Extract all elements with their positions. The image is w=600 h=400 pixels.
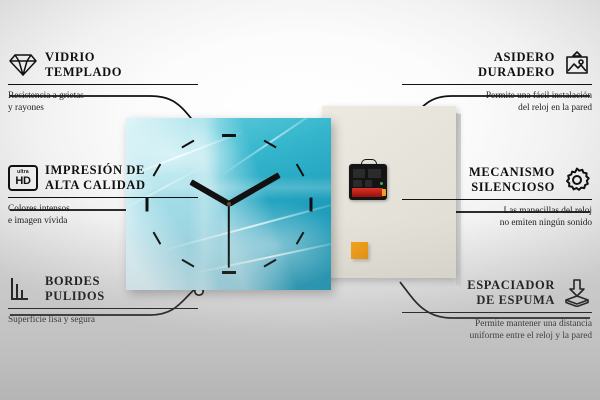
feature-title-line1: IMPRESIÓN DE bbox=[45, 163, 146, 178]
feature-impresion-alta-calidad: ultra HD IMPRESIÓN DE ALTA CALIDAD Color… bbox=[8, 163, 198, 228]
clock-tick bbox=[309, 197, 312, 211]
divider bbox=[8, 197, 198, 199]
divider bbox=[402, 312, 592, 314]
picture-frame-hanger-icon bbox=[562, 50, 592, 80]
feature-title-line2: PULIDOS bbox=[45, 289, 105, 304]
feature-espaciador-de-espuma: ESPACIADOR DE ESPUMA Permite mantener un… bbox=[402, 278, 592, 343]
feature-title-line1: ESPACIADOR bbox=[467, 278, 555, 293]
feature-bordes-pulidos: BORDES PULIDOS Superficie lisa y segura bbox=[8, 274, 198, 326]
mechanism-detail bbox=[365, 180, 372, 187]
divider bbox=[402, 199, 592, 201]
feature-title-line2: DURADERO bbox=[478, 65, 555, 80]
feature-desc-line1: Resistencia a grietas bbox=[8, 90, 198, 102]
clock-tick bbox=[263, 259, 276, 268]
feature-desc-line2: del reloj en la pared bbox=[402, 102, 592, 114]
feature-vidrio-templado: VIDRIO TEMPLADO Resistencia a grietas y … bbox=[8, 50, 198, 115]
feature-desc-line2: e imagen vívida bbox=[8, 215, 198, 227]
diamond-icon bbox=[8, 50, 38, 80]
feature-title-line1: BORDES bbox=[45, 274, 105, 289]
hanger-hook-icon bbox=[361, 159, 377, 167]
hd-badge-large-label: HD bbox=[15, 176, 30, 187]
feature-desc-line1: Las manecillas del reloj bbox=[402, 205, 592, 217]
clock-second-hand bbox=[228, 204, 230, 268]
feature-title-line1: ASIDERO bbox=[478, 50, 555, 65]
clock-tick bbox=[295, 232, 304, 245]
clock-center-pin bbox=[227, 202, 231, 206]
mechanism-detail bbox=[368, 169, 381, 178]
clock-tick bbox=[222, 271, 236, 274]
divider bbox=[8, 84, 198, 86]
feature-title-line1: VIDRIO bbox=[45, 50, 122, 65]
feature-desc-line1: Permite una fácil instalación bbox=[402, 90, 592, 102]
divider bbox=[402, 84, 592, 86]
feature-desc-line1: Colores intensos bbox=[8, 203, 198, 215]
feature-title-line2: SILENCIOSO bbox=[469, 180, 555, 195]
feature-title-line2: TEMPLADO bbox=[45, 65, 122, 80]
foam-spacer bbox=[351, 242, 368, 259]
feature-asidero-duradero: ASIDERO DURADERO Permite una fácil insta… bbox=[402, 50, 592, 115]
polished-edges-icon bbox=[8, 274, 38, 304]
mechanism-detail bbox=[353, 169, 365, 178]
ultra-hd-badge-icon: ultra HD bbox=[8, 163, 38, 193]
feature-mecanismo-silencioso: MECANISMO SILENCIOSO Las manecillas del … bbox=[402, 165, 592, 230]
mechanism-led bbox=[380, 182, 383, 185]
gear-icon bbox=[562, 165, 592, 195]
clock-tick bbox=[222, 134, 236, 137]
mechanism-detail bbox=[353, 180, 362, 187]
clock-tick bbox=[153, 232, 162, 245]
divider bbox=[8, 308, 198, 310]
feature-title-line1: MECANISMO bbox=[469, 165, 555, 180]
feature-desc-line2: y rayones bbox=[8, 102, 198, 114]
feature-title-line2: DE ESPUMA bbox=[467, 293, 555, 308]
clock-tick bbox=[295, 163, 304, 176]
foam-spacer-arrow-icon bbox=[562, 278, 592, 308]
clock-mechanism bbox=[349, 164, 387, 200]
feature-desc-line2: no emiten ningún sonido bbox=[402, 217, 592, 229]
infographic-canvas: VIDRIO TEMPLADO Resistencia a grietas y … bbox=[0, 0, 600, 400]
feature-desc-line2: uniforme entre el reloj y la pared bbox=[402, 330, 592, 342]
feature-desc-line1: Permite mantener una distancia bbox=[402, 318, 592, 330]
feature-desc-line1: Superficie lisa y segura bbox=[8, 314, 198, 326]
battery bbox=[352, 188, 383, 197]
feature-title-line2: ALTA CALIDAD bbox=[45, 178, 146, 193]
